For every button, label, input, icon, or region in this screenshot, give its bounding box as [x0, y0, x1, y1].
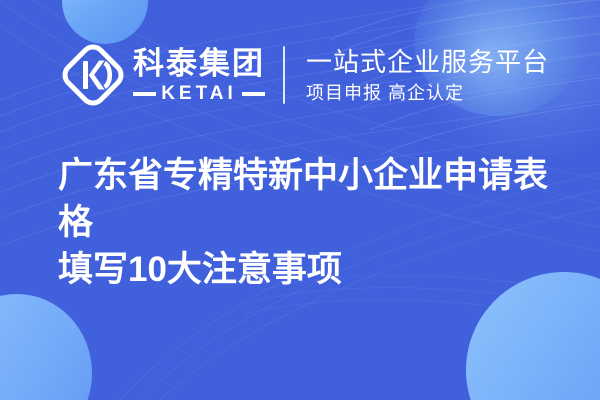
brand-name-en-row: KETAI: [133, 84, 265, 104]
page-title: 广东省专精特新中小企业申请表格 填写10大注意事项: [58, 152, 568, 293]
brand-wordmark: 科泰集团 KETAI: [133, 46, 265, 104]
promo-banner: 科泰集团 KETAI 一站式企业服务平台 项目申报 高企认定 广东省专精特新中小…: [0, 0, 600, 400]
page-title-line-2: 填写10大注意事项: [58, 246, 568, 293]
page-title-line-1: 广东省专精特新中小企业申请表格: [58, 152, 568, 246]
brand-name-en: KETAI: [156, 84, 242, 104]
wordmark-dash-right: [242, 92, 265, 96]
bottom-left-decorative-circle: [0, 294, 92, 400]
tagline-sub: 项目申报 高企认定: [306, 81, 549, 105]
banner-header: 科泰集团 KETAI 一站式企业服务平台 项目申报 高企认定: [0, 34, 600, 116]
ketai-diamond-monogram-icon: [57, 39, 129, 111]
tagline: 一站式企业服务平台 项目申报 高企认定: [306, 46, 549, 105]
header-divider: [283, 46, 285, 104]
tagline-main: 一站式企业服务平台: [306, 46, 549, 78]
brand-logo: 科泰集团 KETAI: [57, 39, 265, 111]
wordmark-dash-left: [133, 92, 156, 96]
brand-name-cn: 科泰集团: [133, 46, 265, 82]
